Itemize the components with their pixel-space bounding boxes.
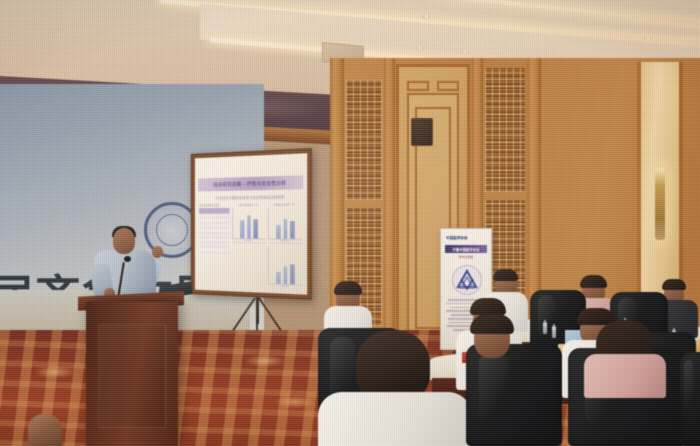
interlocking-triangle-logo-icon xyxy=(452,265,482,295)
water-bottle[interactable] xyxy=(552,326,556,338)
panel-corner-detail-right xyxy=(437,81,459,91)
wall-mounted-speaker xyxy=(411,118,433,146)
conference-photo: 届齐鲁中国 CHINESE 临床研究进展 – 疗效与安全性分析 不同治疗方案的有… xyxy=(0,0,700,446)
panel-corner-detail-left xyxy=(407,81,429,91)
slide-subtitle: 不同治疗方案的有效率与安全性指标比较结果 xyxy=(195,194,307,202)
attendee-hair xyxy=(470,298,506,315)
chair[interactable] xyxy=(680,352,700,446)
downlight-1 xyxy=(422,14,431,19)
slide-table-row xyxy=(199,247,230,252)
rollup-title-text: 齐鲁中国医学论坛 xyxy=(452,247,479,252)
attendee-hair xyxy=(493,269,518,281)
chart-panel-2: 主要终点达成率（%） 随访时间 xyxy=(268,202,302,244)
attendee-hair xyxy=(334,281,362,295)
presenter-head xyxy=(113,228,135,254)
chart-plot-area xyxy=(268,246,302,285)
lattice-grille-3 xyxy=(485,68,525,192)
chart-panel-1: 总体有效率比较（%） 治疗组别 xyxy=(232,203,265,244)
attendee-head xyxy=(28,414,62,446)
chart-title: 主要终点达成率（%） xyxy=(268,202,302,206)
chart-axis-label: 治疗组别 xyxy=(232,239,265,242)
wall-pillar-2 xyxy=(384,58,395,358)
downlight-6 xyxy=(644,36,652,40)
chart-plot-area xyxy=(268,207,302,239)
chart-panel-3: 剂量分组 xyxy=(268,246,302,288)
chart-bar xyxy=(247,216,251,238)
presentation-slide: 临床研究进展 – 疗效与安全性分析 不同治疗方案的有效率与安全性指标比较结果 患… xyxy=(195,153,307,295)
chart-bar xyxy=(283,266,287,284)
carpet-motif xyxy=(20,362,90,382)
microphone-head xyxy=(124,256,131,262)
attendee-body xyxy=(584,354,666,398)
chart-bar xyxy=(276,272,280,284)
chart-bar xyxy=(290,221,294,238)
chart-bar xyxy=(240,220,244,237)
screen-surface: 临床研究进展 – 疗效与安全性分析 不同治疗方案的有效率与安全性指标比较结果 患… xyxy=(195,153,307,295)
chart-axis-label: 剂量分组 xyxy=(268,284,302,288)
slide-body: 患者基线特征与分组 总体有效率比较（%） xyxy=(199,202,302,288)
attendee-hair xyxy=(470,314,514,334)
chart-bar xyxy=(283,219,287,239)
attendee-hair xyxy=(662,279,686,290)
rollup-subtitle-text: 学术交流会 xyxy=(445,255,487,259)
attendee-hair xyxy=(580,275,607,288)
chart-bar xyxy=(290,264,294,283)
slide-table-caption: 患者基线特征与分组 xyxy=(199,203,230,207)
chair[interactable] xyxy=(466,344,562,446)
projection-screen: 临床研究进展 – 疗效与安全性分析 不同治疗方案的有效率与安全性指标比较结果 患… xyxy=(191,148,312,300)
lattice-grille-1 xyxy=(346,80,382,200)
water-bottle[interactable] xyxy=(543,322,547,334)
chart-plot-area xyxy=(232,208,265,240)
chart-axis-label: 随访时间 xyxy=(268,240,302,243)
chart-bar xyxy=(276,225,280,238)
downlight-3 xyxy=(461,50,469,54)
slide-title-bar: 临床研究进展 – 疗效与安全性分析 xyxy=(198,175,303,191)
slide-data-table: 患者基线特征与分组 xyxy=(199,203,230,285)
chart-title: 总体有效率比较（%） xyxy=(232,203,265,207)
chart-panel-empty xyxy=(232,246,265,287)
downlight-2 xyxy=(416,46,424,50)
rollup-logo-text: 中国医师协会 xyxy=(446,236,468,241)
slide-title: 临床研究进展 – 疗效与安全性分析 xyxy=(213,179,286,188)
backdrop-emblem-inner-ring xyxy=(156,214,188,246)
attendee-body-foreground xyxy=(318,392,472,446)
slide-chart-grid: 总体有效率比较（%） 治疗组别 主要终点达成率（%） xyxy=(232,202,302,288)
lectern-front-panel xyxy=(98,324,166,428)
triangle-logo-svg xyxy=(452,265,482,295)
wall-sconce-light xyxy=(655,168,665,240)
lectern xyxy=(86,302,178,446)
carpet-motif xyxy=(230,352,300,370)
rollup-title-bar: 齐鲁中国医学论坛 xyxy=(445,245,487,253)
chart-bar xyxy=(254,219,258,238)
